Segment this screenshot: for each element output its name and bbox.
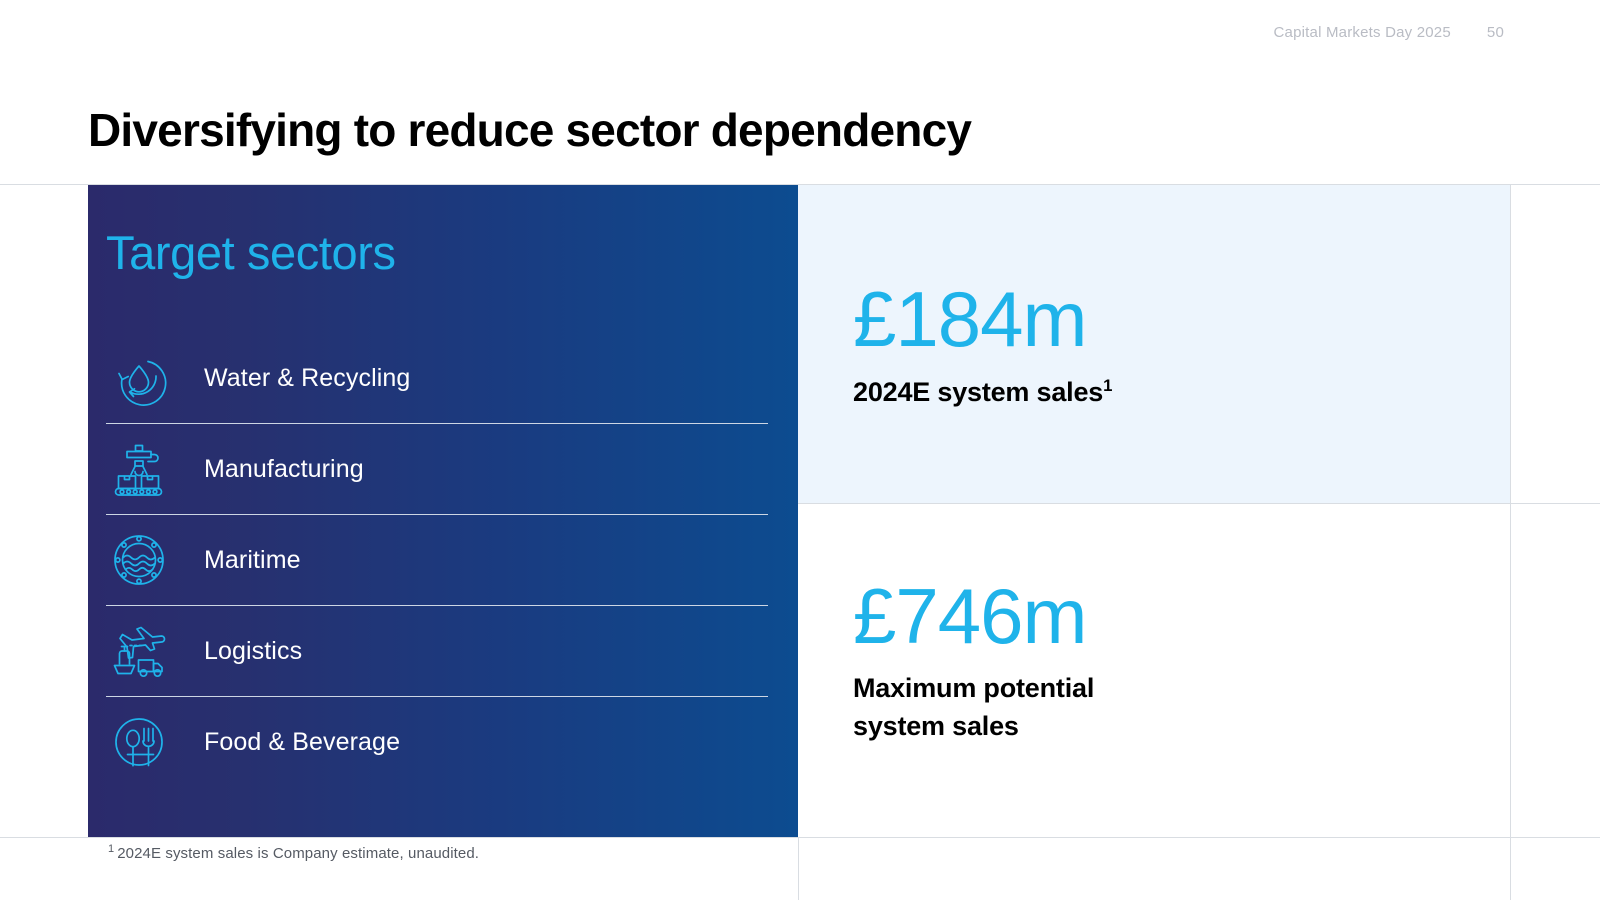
stat-caption: 2024E system sales1 — [853, 373, 1112, 411]
panel-heading: Target sectors — [106, 225, 396, 280]
page-title: Diversifying to reduce sector dependency — [88, 103, 971, 157]
stat-value: £184m — [853, 280, 1087, 358]
logistics-icon — [108, 620, 170, 682]
gridline-vertical-right — [1510, 184, 1511, 900]
stat-caption: Maximum potential system sales — [853, 669, 1094, 746]
maritime-icon — [108, 529, 170, 591]
stat-value: £746m — [853, 577, 1087, 655]
list-item-label: Food & Beverage — [204, 728, 400, 757]
list-item-label: Maritime — [204, 546, 301, 575]
list-item[interactable]: Food & Beverage — [106, 697, 768, 787]
stat-caption-text: 2024E system sales — [853, 377, 1103, 407]
list-item[interactable]: Manufacturing — [106, 424, 768, 515]
stat-card-system-sales: £184m 2024E system sales1 — [798, 185, 1510, 503]
manufacturing-icon — [108, 438, 170, 500]
slide-header: Capital Markets Day 2025 50 — [1274, 24, 1504, 41]
list-item-label: Manufacturing — [204, 455, 364, 484]
water-recycling-icon — [108, 347, 170, 409]
sector-list: Water & Recycling — [106, 333, 768, 787]
stat-card-max-potential: £746m Maximum potential system sales — [798, 504, 1510, 837]
event-name: Capital Markets Day 2025 — [1274, 24, 1451, 41]
list-item[interactable]: Water & Recycling — [106, 333, 768, 424]
stat-caption-line-1: Maximum potential — [853, 669, 1094, 707]
list-item[interactable]: Maritime — [106, 515, 768, 606]
list-item-label: Water & Recycling — [204, 364, 410, 393]
list-item-label: Logistics — [204, 637, 302, 666]
food-beverage-icon — [108, 711, 170, 773]
stat-caption-line-2: system sales — [853, 707, 1094, 745]
footnote-marker: 1 — [108, 843, 114, 855]
footnote: 12024E system sales is Company estimate,… — [108, 843, 479, 862]
target-sectors-panel: Target sectors Water & Recycling — [88, 185, 798, 837]
list-item[interactable]: Logistics — [106, 606, 768, 697]
page-number: 50 — [1487, 24, 1504, 41]
footnote-marker: 1 — [1103, 376, 1112, 395]
gridline-bottom — [0, 837, 1600, 838]
footnote-text: 2024E system sales is Company estimate, … — [117, 845, 479, 862]
